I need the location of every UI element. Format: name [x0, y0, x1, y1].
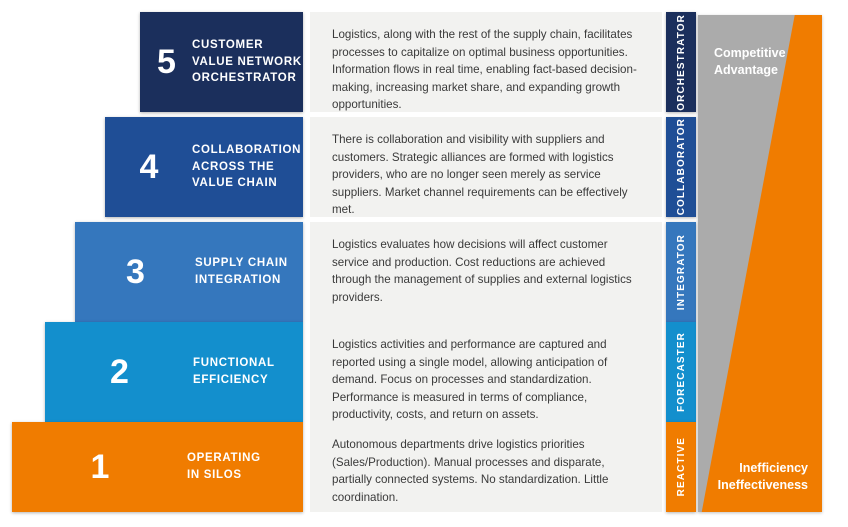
inefficiency-label-line: Inefficiency	[698, 460, 808, 477]
tier-number-4: 4	[105, 150, 192, 184]
tier-number-5: 5	[140, 45, 192, 79]
tier-description-2: Logistics activities and performance are…	[310, 322, 662, 422]
tier-description-1: Autonomous departments drive logistics p…	[310, 422, 662, 512]
tier-bar-2[interactable]: 2 FUNCTIONAL EFFICIENCY	[45, 322, 303, 422]
maturity-model-diagram: 5 CUSTOMER VALUE NETWORK ORCHESTRATOR Lo…	[0, 0, 848, 527]
tier-title-line: COLLABORATION	[192, 142, 301, 159]
advantage-axis-panel: Competitive Advantage Inefficiency Ineff…	[698, 15, 822, 512]
stage-label-2: FORECASTER	[666, 322, 696, 422]
tier-title-line: EFFICIENCY	[193, 372, 275, 389]
tier-title-line: FUNCTIONAL	[193, 355, 275, 372]
tier-bar-1[interactable]: 1 OPERATING IN SILOS	[12, 422, 303, 512]
stage-label-text: REACTIVE	[676, 437, 687, 496]
advantage-label-line: Advantage	[714, 62, 822, 79]
tier-title-5: CUSTOMER VALUE NETWORK ORCHESTRATOR	[192, 37, 302, 87]
tier-title-3: SUPPLY CHAIN INTEGRATION	[195, 255, 288, 288]
tier-title-line: SUPPLY CHAIN	[195, 255, 288, 272]
tier-title-1: OPERATING IN SILOS	[187, 450, 261, 483]
tier-title-2: FUNCTIONAL EFFICIENCY	[193, 355, 275, 388]
inefficiency-label: Inefficiency Ineffectiveness	[698, 460, 822, 494]
tier-description-text: Logistics, along with the rest of the su…	[332, 26, 646, 114]
tier-number-2: 2	[45, 355, 193, 389]
inefficiency-label-line: Ineffectiveness	[698, 477, 808, 494]
stage-label-text: INTEGRATOR	[676, 234, 687, 310]
tier-description-5: Logistics, along with the rest of the su…	[310, 12, 662, 112]
stage-label-text: ORCHESTRATOR	[676, 14, 687, 111]
tier-title-4: COLLABORATION ACROSS THE VALUE CHAIN	[192, 142, 301, 192]
stage-label-3: INTEGRATOR	[666, 222, 696, 322]
stage-label-4: COLLABORATOR	[666, 117, 696, 217]
tier-title-line: ORCHESTRATOR	[192, 70, 302, 87]
advantage-label-line: Competitive	[714, 45, 822, 62]
stage-label-text: COLLABORATOR	[676, 118, 687, 215]
tier-bar-5[interactable]: 5 CUSTOMER VALUE NETWORK ORCHESTRATOR	[140, 12, 303, 112]
tier-description-text: Logistics evaluates how decisions will a…	[332, 236, 646, 306]
stage-label-text: FORECASTER	[676, 332, 687, 412]
stage-label-5: ORCHESTRATOR	[666, 12, 696, 112]
tier-description-text: Logistics activities and performance are…	[332, 336, 646, 424]
tier-description-text: Autonomous departments drive logistics p…	[332, 436, 646, 506]
tier-title-line: ACROSS THE	[192, 159, 301, 176]
competitive-advantage-label: Competitive Advantage	[698, 45, 822, 79]
tier-title-line: CUSTOMER	[192, 37, 302, 54]
tier-description-3: Logistics evaluates how decisions will a…	[310, 222, 662, 322]
tier-description-text: There is collaboration and visibility wi…	[332, 131, 646, 219]
tier-bar-4[interactable]: 4 COLLABORATION ACROSS THE VALUE CHAIN	[105, 117, 303, 217]
tier-title-line: VALUE CHAIN	[192, 175, 301, 192]
tier-number-3: 3	[75, 255, 195, 289]
tier-title-line: INTEGRATION	[195, 272, 288, 289]
tier-description-4: There is collaboration and visibility wi…	[310, 117, 662, 217]
tier-number-1: 1	[12, 450, 187, 484]
tier-title-line: IN SILOS	[187, 467, 261, 484]
tier-bar-3[interactable]: 3 SUPPLY CHAIN INTEGRATION	[75, 222, 303, 322]
stage-label-1: REACTIVE	[666, 422, 696, 512]
tier-title-line: OPERATING	[187, 450, 261, 467]
tier-title-line: VALUE NETWORK	[192, 54, 302, 71]
